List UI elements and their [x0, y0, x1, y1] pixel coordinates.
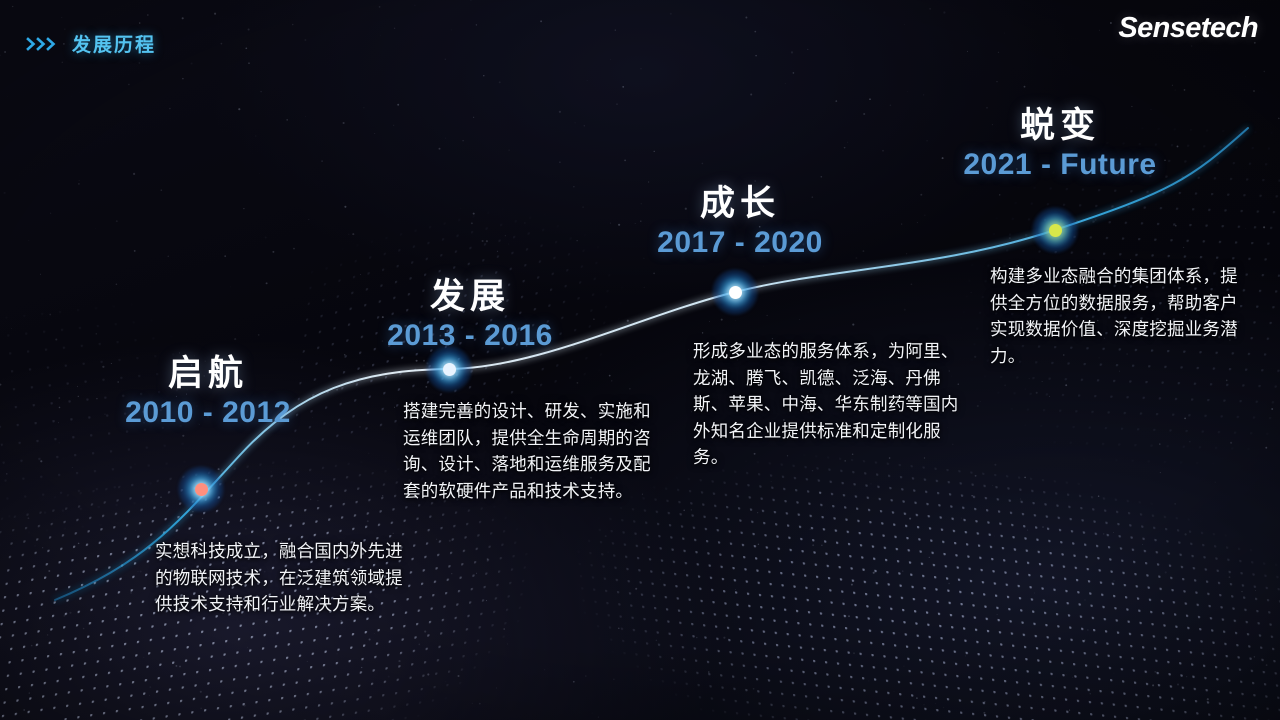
brand-logo: Sensetech: [1118, 12, 1258, 45]
milestone-year: 2013 - 2016: [300, 319, 640, 354]
milestone-description-chengzhang: 形成多业态的服务体系，为阿里、龙湖、腾飞、凯德、泛海、丹佛斯、苹果、中海、华东制…: [693, 338, 965, 471]
milestone-year: 2010 - 2012: [38, 396, 378, 431]
milestone-tuibian[interactable]: 蜕变 2021 - Future: [890, 107, 1230, 182]
milestone-title: 发展: [300, 278, 640, 317]
node-core-icon: [443, 363, 456, 376]
milestone-node-tuibian[interactable]: [1032, 207, 1078, 253]
milestone-description-fazhan: 搭建完善的设计、研发、实施和运维团队，提供全生命周期的咨询、设计、落地和运维服务…: [403, 398, 655, 504]
page-title: 发展历程: [72, 30, 156, 57]
milestone-node-qihang[interactable]: [178, 466, 224, 512]
chevrons-right-icon: [26, 37, 60, 51]
milestone-title: 成长: [570, 185, 910, 224]
milestone-fazhan[interactable]: 发展 2013 - 2016: [300, 278, 640, 353]
milestone-year: 2017 - 2020: [570, 226, 910, 261]
milestone-node-chengzhang[interactable]: [712, 269, 758, 315]
milestone-year: 2021 - Future: [890, 148, 1230, 183]
milestone-description-qihang: 实想科技成立，融合国内外先进的物联网技术，在泛建筑领域提供技术支持和行业解决方案…: [155, 538, 417, 618]
milestone-chengzhang[interactable]: 成长 2017 - 2020: [570, 185, 910, 260]
node-core-icon: [729, 286, 742, 299]
milestone-title: 蜕变: [890, 107, 1230, 146]
section-header: 发展历程: [26, 30, 156, 57]
milestone-qihang[interactable]: 启航 2010 - 2012: [38, 355, 378, 430]
milestone-description-tuibian: 构建多业态融合的集团体系，提供全方位的数据服务，帮助客户实现数据价值、深度挖掘业…: [990, 263, 1248, 369]
node-core-icon: [1049, 224, 1062, 237]
milestone-title: 启航: [38, 355, 378, 394]
node-core-icon: [195, 483, 208, 496]
slide-canvas: 发展历程 Sensetech 启航 2010: [0, 0, 1280, 720]
